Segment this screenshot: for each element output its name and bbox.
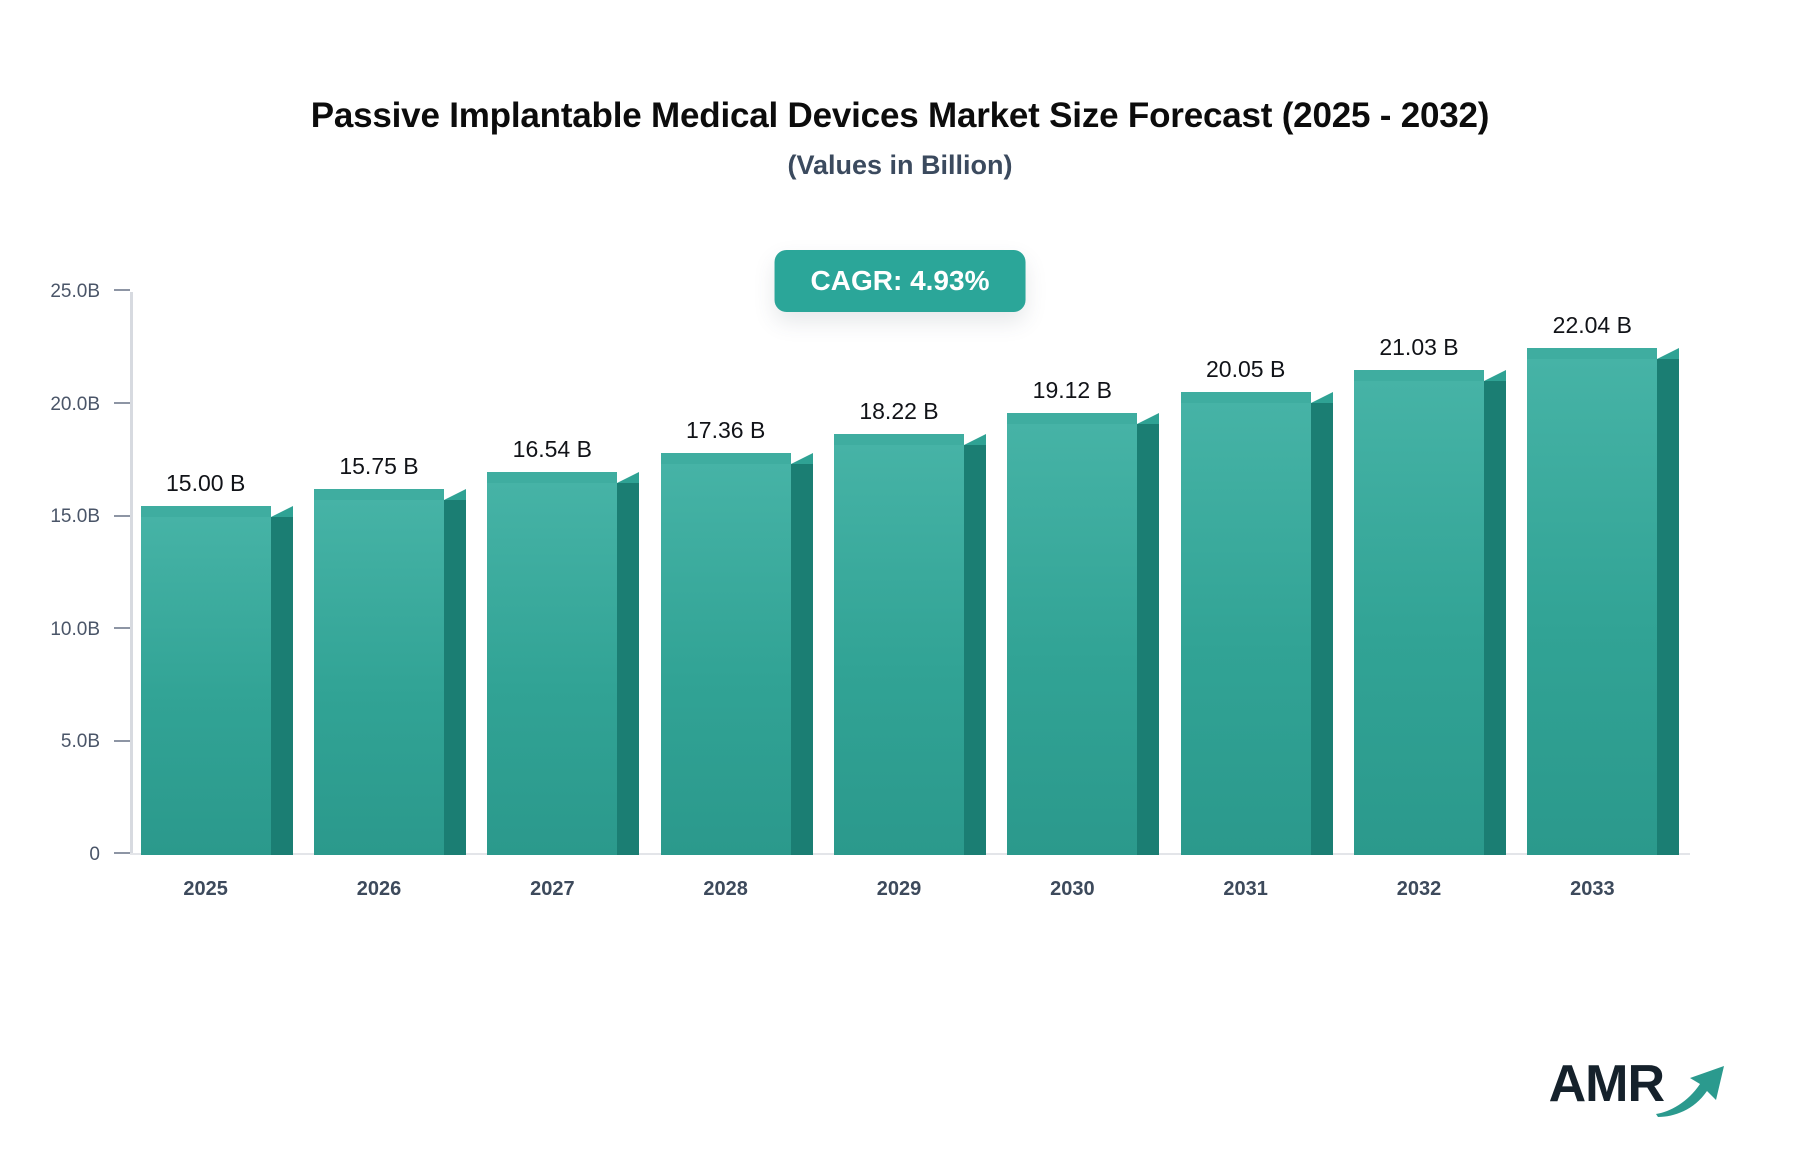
bar-group[interactable]: 19.12 B2030 xyxy=(1007,292,1159,855)
bar-group[interactable]: 15.75 B2026 xyxy=(314,292,466,855)
bar-front-face xyxy=(1007,424,1137,855)
bar[interactable]: 22.04 B xyxy=(1527,359,1679,855)
x-axis-label: 2032 xyxy=(1354,878,1484,901)
bar-front-face xyxy=(1354,381,1484,855)
y-tick-label: 15.0B xyxy=(50,506,100,527)
bar-group[interactable]: 20.05 B2031 xyxy=(1181,292,1333,855)
bar-front-face xyxy=(314,500,444,855)
y-axis-tick: 5.0B xyxy=(5,731,130,753)
y-axis-tick: 20.0B xyxy=(5,394,130,416)
y-tick-dash xyxy=(114,627,130,629)
y-tick-label: 5.0B xyxy=(61,731,100,752)
x-axis-label: 2029 xyxy=(834,878,964,901)
y-tick-label: 0 xyxy=(89,844,100,865)
bar-top-face xyxy=(314,489,444,500)
bar-value-label: 19.12 B xyxy=(1007,377,1137,404)
y-tick-dash xyxy=(114,852,130,854)
y-tick-label: 25.0B xyxy=(50,281,100,302)
bar[interactable]: 15.00 B xyxy=(141,517,293,855)
bar-front-face xyxy=(1527,359,1657,855)
bar-value-label: 15.00 B xyxy=(141,470,271,497)
bar[interactable]: 17.36 B xyxy=(661,464,813,855)
bar[interactable]: 20.05 B xyxy=(1181,403,1333,855)
growth-arrow-icon xyxy=(1654,1056,1728,1118)
x-axis-label: 2027 xyxy=(487,878,617,901)
y-tick-label: 20.0B xyxy=(50,394,100,415)
page-title: Passive Implantable Medical Devices Mark… xyxy=(0,96,1800,136)
bar-side-face xyxy=(444,500,466,855)
bar-top-face xyxy=(661,453,791,464)
bar-top-face xyxy=(487,472,617,483)
bar-value-label: 21.03 B xyxy=(1354,334,1484,361)
bar-front-face xyxy=(487,483,617,855)
bar-group[interactable]: 21.03 B2032 xyxy=(1354,292,1506,855)
plot-area: 25.0B20.0B15.0B10.0B5.0B0 15.00 B202515.… xyxy=(130,255,1690,895)
y-axis-tick: 15.0B xyxy=(5,506,130,528)
x-axis-label: 2031 xyxy=(1181,878,1311,901)
bar-value-label: 17.36 B xyxy=(661,417,791,444)
bar-side-face xyxy=(617,483,639,855)
bar-group[interactable]: 15.00 B2025 xyxy=(141,292,293,855)
y-tick-label: 10.0B xyxy=(50,619,100,640)
bar-series: 15.00 B202515.75 B202616.54 B202717.36 B… xyxy=(130,292,1690,855)
bar-value-label: 22.04 B xyxy=(1527,312,1657,339)
bar-top-face xyxy=(834,434,964,445)
bar-top-face xyxy=(1354,370,1484,381)
bar[interactable]: 19.12 B xyxy=(1007,424,1159,855)
chart-page: Passive Implantable Medical Devices Mark… xyxy=(0,0,1800,1156)
bar-front-face xyxy=(1181,403,1311,855)
bar[interactable]: 15.75 B xyxy=(314,500,466,855)
bar-group[interactable]: 18.22 B2029 xyxy=(834,292,986,855)
x-axis-label: 2028 xyxy=(661,878,791,901)
bar-value-label: 15.75 B xyxy=(314,453,444,480)
bar-top-face xyxy=(141,506,271,517)
y-tick-dash xyxy=(114,740,130,742)
x-axis-label: 2030 xyxy=(1007,878,1137,901)
bar-value-label: 16.54 B xyxy=(487,436,617,463)
bar-side-face xyxy=(791,464,813,855)
page-subtitle: (Values in Billion) xyxy=(0,150,1800,181)
bar[interactable]: 16.54 B xyxy=(487,483,639,855)
bar-side-face xyxy=(1137,424,1159,855)
bar-side-face xyxy=(1657,359,1679,855)
y-axis-tick: 25.0B xyxy=(5,281,130,303)
y-axis-tick: 0 xyxy=(5,844,130,866)
bar-top-face xyxy=(1007,413,1137,424)
bar-side-face xyxy=(1311,403,1333,855)
bar-top-face xyxy=(1527,348,1657,359)
bar-group[interactable]: 16.54 B2027 xyxy=(487,292,639,855)
y-tick-dash xyxy=(114,515,130,517)
bar-front-face xyxy=(141,517,271,855)
bar-front-face xyxy=(661,464,791,855)
amr-logo: AMR xyxy=(1549,1050,1728,1118)
y-axis-tick: 10.0B xyxy=(5,619,130,641)
bar-side-face xyxy=(1484,381,1506,855)
bar[interactable]: 18.22 B xyxy=(834,445,986,855)
bar-side-face xyxy=(964,445,986,855)
bar[interactable]: 21.03 B xyxy=(1354,381,1506,855)
x-axis-label: 2025 xyxy=(141,878,271,901)
x-axis-label: 2026 xyxy=(314,878,444,901)
y-tick-dash xyxy=(114,289,130,291)
y-tick-dash xyxy=(114,402,130,404)
bar-value-label: 20.05 B xyxy=(1181,356,1311,383)
bar-front-face xyxy=(834,445,964,855)
x-axis-label: 2033 xyxy=(1527,878,1657,901)
bar-top-face xyxy=(1181,392,1311,403)
bar-group[interactable]: 22.04 B2033 xyxy=(1527,292,1679,855)
logo-text: AMR xyxy=(1549,1058,1664,1110)
bar-group[interactable]: 17.36 B2028 xyxy=(661,292,813,855)
bar-side-face xyxy=(271,517,293,855)
bar-value-label: 18.22 B xyxy=(834,398,964,425)
